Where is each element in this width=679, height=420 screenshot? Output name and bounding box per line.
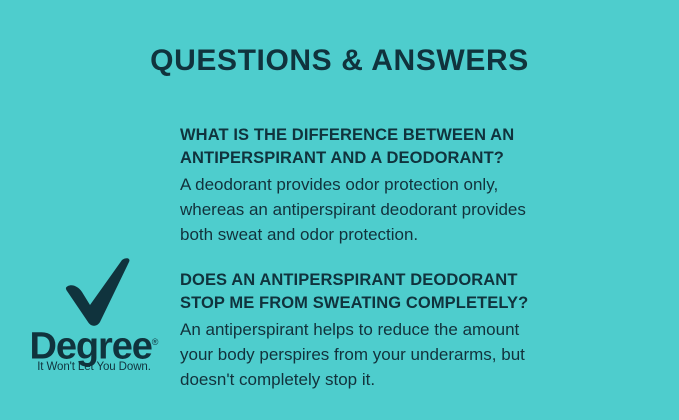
- faq-answer-line: doesn't completely stop it.: [180, 367, 580, 392]
- faq-answer-line: both sweat and odor protection.: [180, 222, 580, 247]
- faq-answer-line: An antiperspirant helps to reduce the am…: [180, 317, 580, 342]
- page-title: QUESTIONS & ANSWERS: [0, 44, 679, 78]
- faq-item: DOES AN ANTIPERSPIRANT DEODORANT STOP ME…: [180, 269, 580, 392]
- faq-list: WHAT IS THE DIFFERENCE BETWEEN AN ANTIPE…: [180, 124, 580, 392]
- faq-question-line: DOES AN ANTIPERSPIRANT DEODORANT: [180, 269, 580, 292]
- checkmark-icon: [30, 258, 158, 326]
- faq-question: DOES AN ANTIPERSPIRANT DEODORANT STOP ME…: [180, 269, 580, 314]
- faq-question-line: ANTIPERSPIRANT AND A DEODORANT?: [180, 147, 580, 170]
- faq-answer: A deodorant provides odor protection onl…: [180, 172, 580, 247]
- faq-question-line: WHAT IS THE DIFFERENCE BETWEEN AN: [180, 124, 580, 147]
- faq-item: WHAT IS THE DIFFERENCE BETWEEN AN ANTIPE…: [180, 124, 580, 247]
- registered-trademark-icon: ®: [152, 337, 159, 347]
- qa-poster: QUESTIONS & ANSWERS WHAT IS THE DIFFEREN…: [0, 0, 679, 420]
- logo-wordmark: Degree®: [24, 322, 164, 367]
- logo-tagline: It Won't Let You Down.: [24, 361, 164, 373]
- faq-question: WHAT IS THE DIFFERENCE BETWEEN AN ANTIPE…: [180, 124, 580, 169]
- faq-answer-line: A deodorant provides odor protection onl…: [180, 172, 580, 197]
- faq-question-line: STOP ME FROM SWEATING COMPLETELY?: [180, 292, 580, 315]
- degree-logo: Degree® It Won't Let You Down.: [24, 258, 164, 388]
- faq-answer-line: whereas an antiperspirant deodorant prov…: [180, 197, 580, 222]
- faq-answer: An antiperspirant helps to reduce the am…: [180, 317, 580, 392]
- faq-answer-line: your body perspires from your underarms,…: [180, 342, 580, 367]
